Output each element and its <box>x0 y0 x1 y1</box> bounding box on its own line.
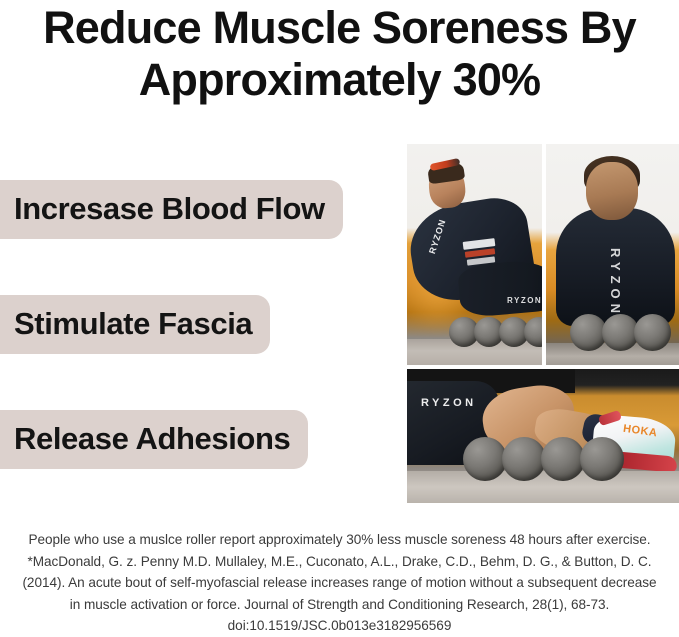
roller-ball <box>463 437 507 481</box>
benefit-row-2: Stimulate Fascia <box>0 295 400 354</box>
jersey-brand-text: RYZON <box>608 248 623 318</box>
athlete-legs <box>457 258 542 319</box>
benefit-pill-release-adhesions: Release Adhesions <box>0 410 308 469</box>
massage-roller <box>463 437 619 481</box>
photo-legs-on-roller-with-shoe: RYZON HOKA <box>407 369 679 503</box>
page-title: Reduce Muscle Soreness By Approximately … <box>0 0 679 106</box>
athlete-head <box>586 162 638 220</box>
shorts-brand-text: RYZON <box>421 397 477 409</box>
roller-ball <box>580 437 624 481</box>
massage-roller <box>449 317 542 347</box>
benefit-pill-increase-blood-flow: Incresase Blood Flow <box>0 180 343 239</box>
short-brand-text: RYZON <box>507 296 542 305</box>
page-title-line-1: Reduce Muscle Soreness By <box>0 2 679 54</box>
collage-top-row: RYZON RYZON RYZON <box>407 144 679 365</box>
roller-ball <box>524 317 542 347</box>
massage-roller <box>570 314 666 351</box>
photo-athlete-back-on-roller: RYZON <box>546 144 679 365</box>
roller-ball <box>502 437 546 481</box>
photo-collage: RYZON RYZON RYZON <box>407 144 679 503</box>
page-title-line-2: Approximately 30% <box>0 54 679 106</box>
photo-athlete-seated-on-roller: RYZON RYZON <box>407 144 542 365</box>
benefit-row-3: Release Adhesions <box>0 410 400 469</box>
benefit-pill-stimulate-fascia: Stimulate Fascia <box>0 295 270 354</box>
benefit-list: Incresase Blood Flow Stimulate Fascia Re… <box>0 180 400 469</box>
benefit-row-1: Incresase Blood Flow <box>0 180 400 239</box>
roller-ball <box>634 314 671 351</box>
footnote-citation: People who use a muslce roller report ap… <box>18 529 661 637</box>
roller-ball <box>541 437 585 481</box>
